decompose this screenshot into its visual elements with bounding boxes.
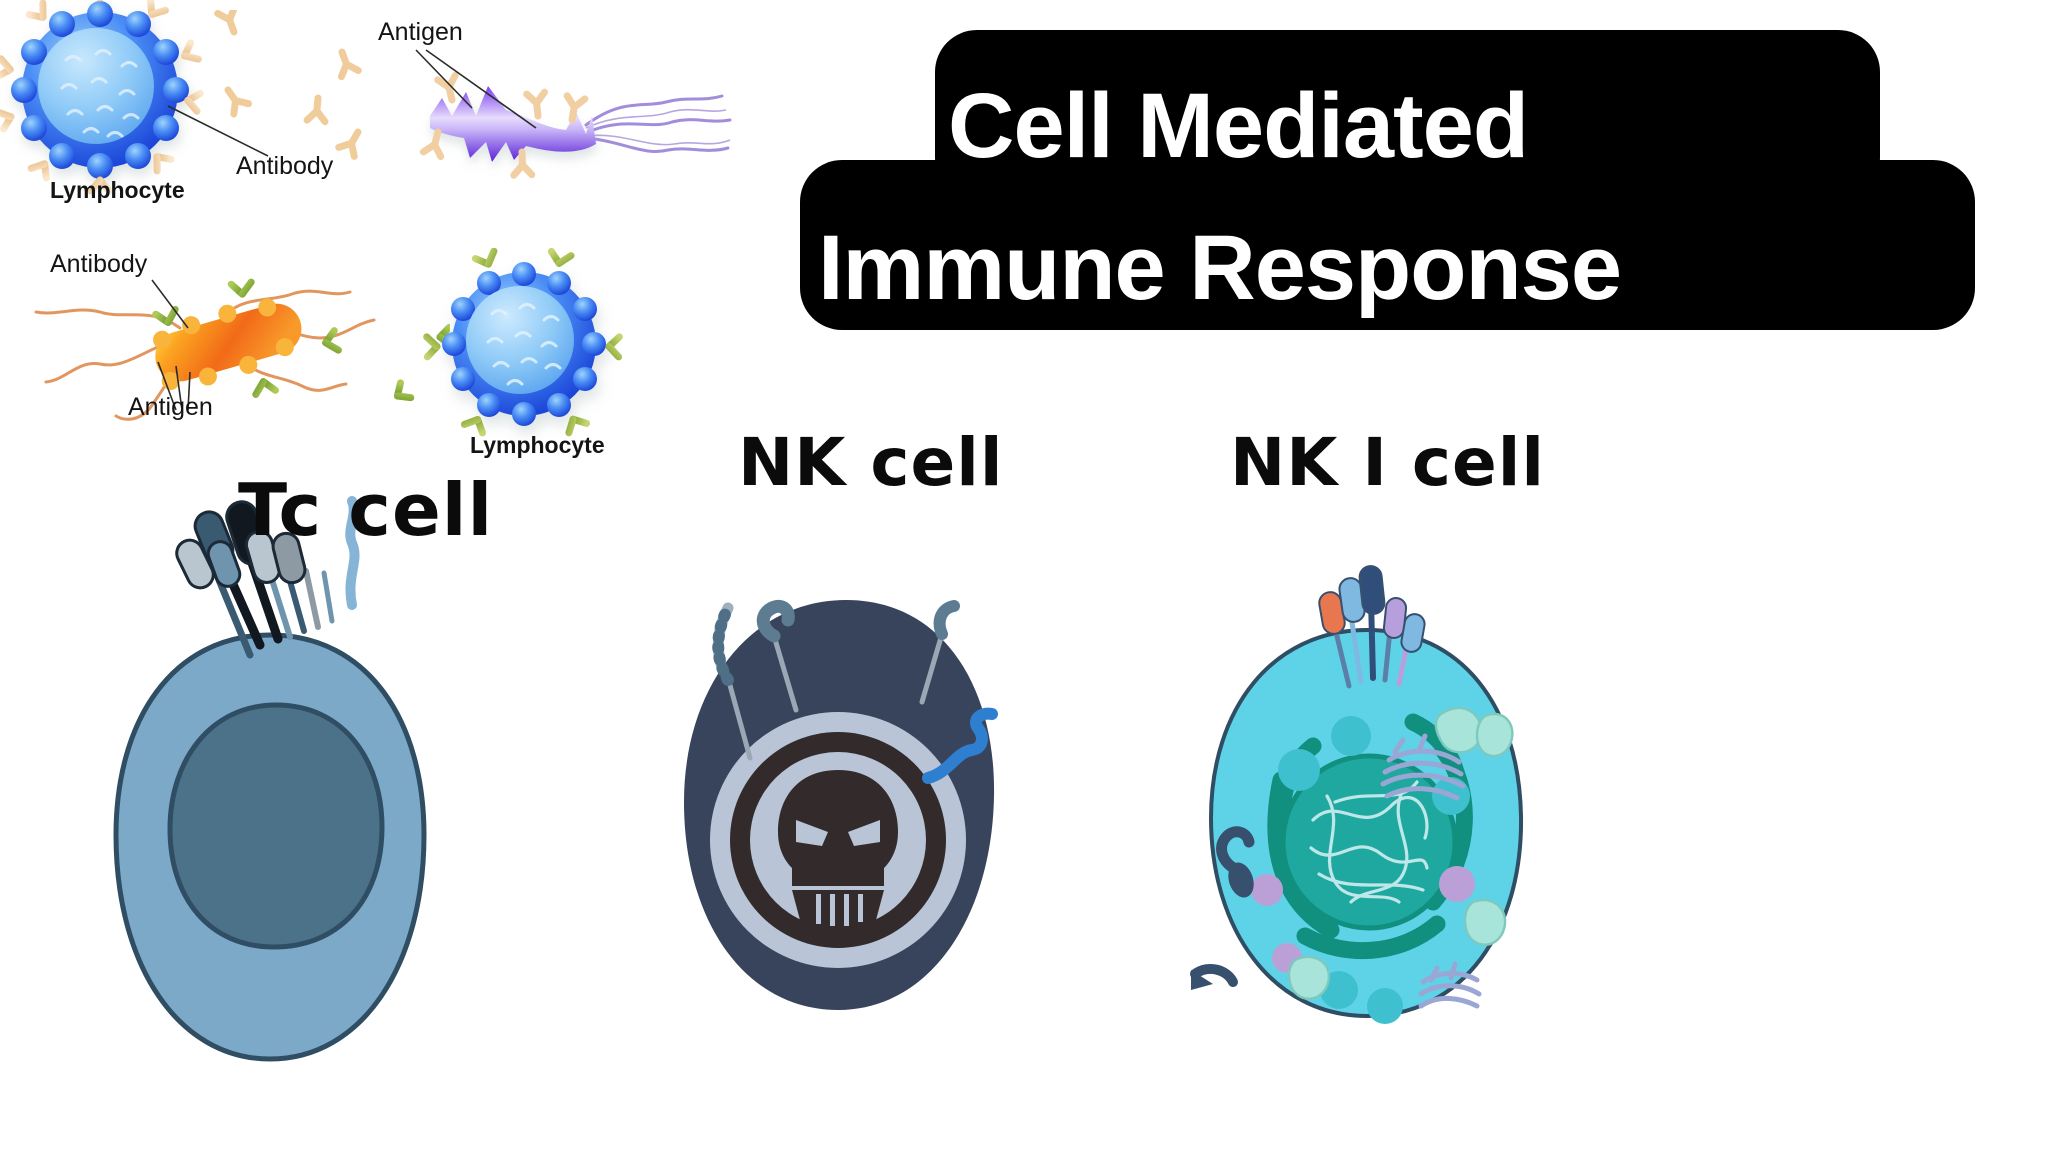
- antigen-callout-label-bacterium: Antigen: [128, 393, 213, 422]
- lymphocyte2-cytoplasm: [466, 286, 574, 394]
- title-line-1: Cell Mediated: [948, 80, 1528, 172]
- tc-cell-label: Tc cell: [238, 468, 493, 552]
- tc-cell-nucleus: [170, 705, 382, 947]
- nkt-cell-label: NK I cell: [1230, 424, 1545, 501]
- nk-cell-label: NK cell: [738, 424, 1004, 501]
- antigen-callout-label-top: Antigen: [378, 18, 463, 47]
- tc-cell-figure: [100, 455, 440, 1115]
- lymphocyte-label-top: Lymphocyte: [50, 177, 185, 204]
- poster-canvas: Antibody Lymphocyte: [0, 0, 2048, 1152]
- title-banner: Cell Mediated Immune Response: [800, 30, 2000, 330]
- title-line-2: Immune Response: [818, 222, 1621, 314]
- lymphocyte-label-mid: Lymphocyte: [470, 432, 605, 459]
- lymphocyte-cytoplasm: [38, 28, 154, 144]
- lymphocyte-receptor-figure: [398, 248, 658, 448]
- antibody-callout-label-bacterium: Antibody: [50, 250, 147, 279]
- nk-cell-figure: [650, 450, 1030, 1130]
- bacterium-antigen-figure: [30, 262, 450, 442]
- antigen-ribbon-figure: [390, 20, 740, 200]
- nkt-cell-figure: [1185, 450, 1545, 1130]
